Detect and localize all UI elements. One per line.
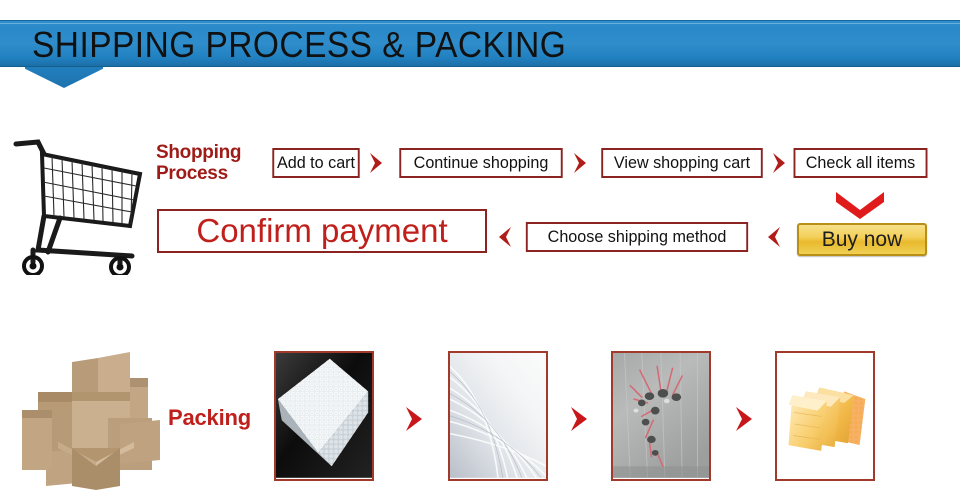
step-choose-shipping-method[interactable]: Choose shipping method [526, 222, 748, 252]
chevron-right-icon [769, 150, 791, 176]
wrapped-parts-photo [611, 351, 711, 481]
shopping-process-label: Shopping Process [156, 142, 266, 184]
cardboard-boxes-icon [10, 340, 170, 490]
chevron-right-icon [400, 404, 430, 434]
chevron-right-icon [366, 150, 388, 176]
chevron-right-icon [565, 404, 595, 434]
step-check-all-items[interactable]: Check all items [794, 148, 928, 178]
packing-label: Packing [168, 405, 251, 431]
banner-bar: SHIPPING PROCESS & PACKING [0, 20, 960, 67]
buy-now-button[interactable]: Buy now [797, 223, 927, 256]
chevron-right-icon [570, 150, 592, 176]
chevron-down-icon [824, 188, 896, 220]
step-confirm-payment[interactable]: Confirm payment [157, 209, 487, 253]
padded-envelopes-photo [775, 351, 875, 481]
shopping-cart-icon [8, 130, 148, 275]
step-view-shopping-cart[interactable]: View shopping cart [601, 148, 763, 178]
page-header-banner: SHIPPING PROCESS & PACKING [0, 20, 960, 70]
white-foam-sheet-photo [448, 351, 548, 481]
page-title: SHIPPING PROCESS & PACKING [32, 21, 566, 68]
bubble-wrap-roll-photo [274, 351, 374, 481]
chevron-left-icon [762, 224, 784, 250]
step-continue-shopping[interactable]: Continue shopping [399, 148, 562, 178]
step-add-to-cart[interactable]: Add to cart [272, 148, 359, 178]
chevron-right-icon [730, 404, 760, 434]
chevron-left-icon [493, 224, 515, 250]
